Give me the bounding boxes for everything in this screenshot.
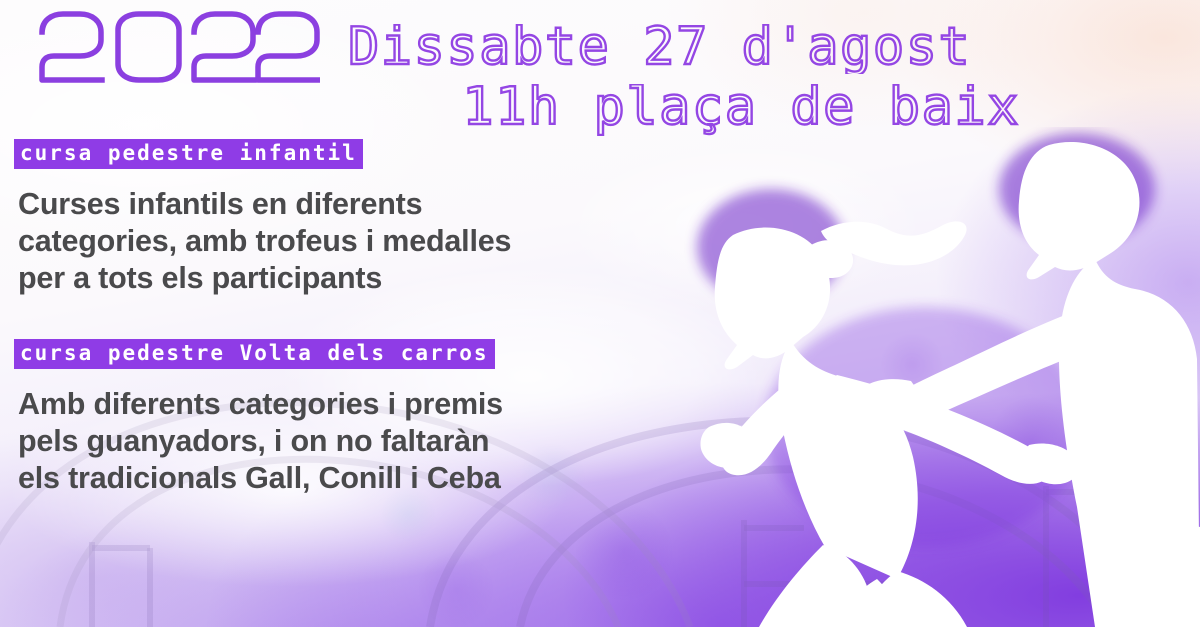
event-place-line: 11h plaça de baix bbox=[348, 84, 1040, 140]
event-place-text: 11h plaça de baix bbox=[462, 84, 1020, 136]
poster-content: cursa pedestre infantil Curses infantils… bbox=[14, 139, 654, 497]
event-date-line: Dissabte 27 d'agost bbox=[348, 24, 1040, 78]
poster-header: Dissabte 27 d'agost 11h plaça de baix bbox=[0, 10, 1040, 140]
section-badge-volta-label: cursa pedestre Volta dels carros bbox=[20, 343, 489, 364]
section-badge-infantil: cursa pedestre infantil bbox=[14, 139, 363, 169]
event-datetime: Dissabte 27 d'agost 11h plaça de baix bbox=[348, 10, 1040, 140]
event-date-glyphs: Dissabte 27 d'agost bbox=[348, 24, 1020, 74]
body-line: Curses infantils en diferents bbox=[18, 186, 618, 223]
section-badge-infantil-label: cursa pedestre infantil bbox=[20, 143, 357, 164]
section-volta-dels-carros: cursa pedestre Volta dels carros Amb dif… bbox=[14, 339, 654, 497]
event-date-text: Dissabte 27 d'agost bbox=[348, 24, 971, 74]
body-line: els tradicionals Gall, Conill i Ceba bbox=[18, 460, 618, 497]
event-poster: Dissabte 27 d'agost 11h plaça de baix cu… bbox=[0, 0, 1200, 627]
body-line: per a tots els participants bbox=[18, 260, 618, 297]
year-2022-glyphs bbox=[36, 10, 320, 86]
runners-graphic bbox=[625, 127, 1200, 627]
body-line: pels guanyadors, i on no faltaràn bbox=[18, 423, 618, 460]
body-line: categories, amb trofeus i medalles bbox=[18, 223, 618, 260]
section-infantil: cursa pedestre infantil Curses infantils… bbox=[14, 139, 654, 297]
body-line: Amb diferents categories i premis bbox=[18, 386, 618, 423]
section-badge-volta: cursa pedestre Volta dels carros bbox=[14, 339, 495, 369]
section-body-volta: Amb diferents categories i premis pels g… bbox=[18, 386, 618, 497]
event-place-glyphs: 11h plaça de baix bbox=[348, 84, 1020, 136]
year-2022 bbox=[36, 10, 320, 90]
section-body-infantil: Curses infantils en diferents categories… bbox=[18, 186, 618, 297]
